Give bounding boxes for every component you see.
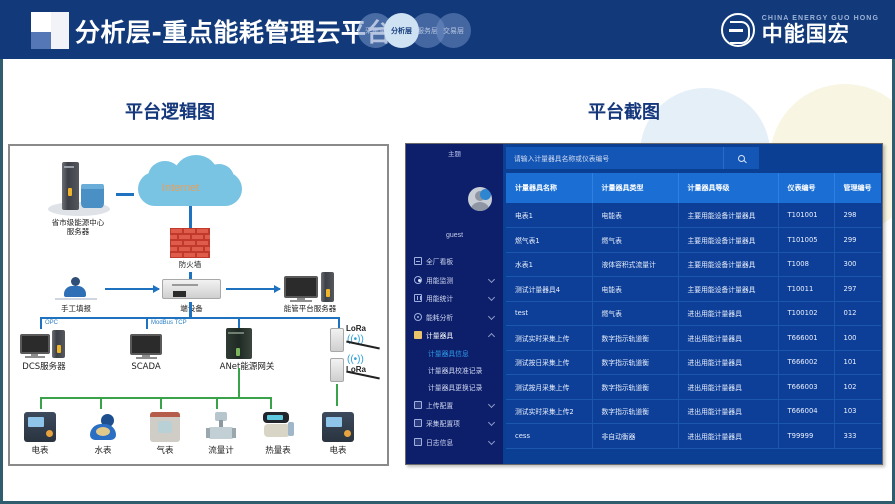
cell-meter-no: T99999 xyxy=(778,424,834,449)
meter-icon-water xyxy=(88,414,118,442)
sidebar-item-logs[interactable]: 日志信息 xyxy=(406,433,503,452)
table-row[interactable]: 测试实时采集上传2 数字指示轨道衡 进出用能计量器具 T666004 103 xyxy=(506,399,881,424)
logo-mark-icon xyxy=(31,12,69,49)
cell-meter-no: T666003 xyxy=(778,375,834,400)
table-header-row: 计量器具名称 计量器具类型 计量器具等级 仪表编号 管理编号 xyxy=(506,173,881,203)
table-row[interactable]: 燃气表1 燃气表 主要用能设备计量器具 T101005 299 xyxy=(506,228,881,253)
cell-meter-no: T1008 xyxy=(778,252,834,277)
manual-entry-head-icon xyxy=(71,277,80,286)
theme-label[interactable]: 主题 xyxy=(406,148,503,158)
cell-name: cess xyxy=(506,424,592,449)
bus-drop-dcs xyxy=(40,317,42,329)
cell-meter-no: T10011 xyxy=(778,277,834,302)
label-meter-heat: 热量表 xyxy=(254,446,302,457)
slide-root: 分析层-重点能耗管理云平台 采集层 服务层 交易层 分析层 CHINA ENER… xyxy=(0,0,895,504)
cell-type: 数字指示轨道衡 xyxy=(592,326,678,351)
platform-screenshot: 主题 guest 全厂看板 用能监测 用能统计 xyxy=(405,143,883,465)
layer-circle-trade[interactable]: 交易层 xyxy=(436,13,471,48)
search-row: 请输入计量器具名称或仪表编号 xyxy=(506,147,881,169)
sidebar-menu: 全厂看板 用能监测 用能统计 能耗分析 xyxy=(406,252,503,451)
sidebar-item-upload-config[interactable]: 上传配置 xyxy=(406,396,503,415)
cell-mgmt-no: 101 xyxy=(834,350,881,375)
table-body: 电表1 电能表 主要用能设备计量器具 T101001 298 燃气表1 燃气表 … xyxy=(506,203,881,448)
meter-icon-electric-2 xyxy=(322,412,354,442)
label-meter-flowmeter: 流量计 xyxy=(197,446,245,457)
col-header-grade[interactable]: 计量器具等级 xyxy=(678,173,778,203)
dashboard-icon xyxy=(414,257,422,265)
label-lora-1: LoRa xyxy=(346,324,366,333)
cell-type: 数字指示轨道衡 xyxy=(592,350,678,375)
meter-icon xyxy=(414,331,422,339)
chevron-down-icon xyxy=(488,312,495,319)
sidebar-label-meters: 计量器具 xyxy=(426,330,453,340)
table-row[interactable]: 电表1 电能表 主要用能设备计量器具 T101001 298 xyxy=(506,203,881,228)
anet-gateway-icon xyxy=(226,328,252,359)
lora-signal-2-icon: ((•)) xyxy=(347,354,364,365)
company-logo: CHINA ENERGY GUO HONG 中能国宏 xyxy=(721,9,879,51)
cell-grade: 主要用能设备计量器具 xyxy=(678,203,778,228)
cell-meter-no: T666001 xyxy=(778,326,834,351)
green-drop-4 xyxy=(216,397,218,409)
sidebar-item-meters[interactable]: 计量器具 xyxy=(406,326,503,345)
sidebar-label-statistics: 用能统计 xyxy=(426,293,453,303)
search-icon xyxy=(738,155,745,162)
sidebar-label-logs: 日志信息 xyxy=(426,437,453,447)
arrow-device-to-platform xyxy=(226,288,280,290)
lora-module-1-icon xyxy=(330,328,344,352)
cell-name: 水表1 xyxy=(506,252,592,277)
cell-name: test xyxy=(506,301,592,326)
sidebar-item-dashboard[interactable]: 全厂看板 xyxy=(406,252,503,271)
table-row[interactable]: test 燃气表 进出用能计量器具 T100102 012 xyxy=(506,301,881,326)
table-row[interactable]: 水表1 液体容积式流量计 主要用能设备计量器具 T1008 300 xyxy=(506,252,881,277)
scada-monitor-foot xyxy=(136,357,157,359)
brand-chinese: 中能国宏 xyxy=(762,24,879,45)
chevron-down-icon xyxy=(488,419,495,426)
province-server-icon xyxy=(62,162,79,210)
bus-drop-device xyxy=(189,302,192,318)
cell-name: 测试实时采集上传 xyxy=(506,326,592,351)
cell-type: 数字指示轨道衡 xyxy=(592,375,678,400)
search-input[interactable]: 请输入计量器具名称或仪表编号 xyxy=(506,147,723,169)
lora-module-2-icon xyxy=(330,358,344,382)
cell-grade: 进出用能计量器具 xyxy=(678,375,778,400)
label-platform-server: 能管平台服务器 xyxy=(270,304,350,313)
table-row[interactable]: 测试按月采集上传 数字指示轨道衡 进出用能计量器具 T666003 102 xyxy=(506,375,881,400)
meter-icon-gas xyxy=(150,412,180,442)
label-protocol-modbus: ModBus TCP xyxy=(151,320,187,326)
link-internet-firewall xyxy=(189,206,192,228)
page-title: 分析层-重点能耗管理云平台 xyxy=(75,13,392,49)
link-server-internet xyxy=(116,193,134,196)
cell-mgmt-no: 299 xyxy=(834,228,881,253)
sidebar-label-upload-config: 上传配置 xyxy=(426,400,453,410)
cell-mgmt-no: 333 xyxy=(834,424,881,449)
scada-monitor-icon xyxy=(130,334,162,355)
internet-label: Internet xyxy=(162,182,199,194)
label-province-server: 省市级能源中心服务器 xyxy=(28,218,128,237)
label-meter-electric-1: 电表 xyxy=(16,446,64,457)
col-header-meter-no[interactable]: 仪表编号 xyxy=(778,173,834,203)
meter-table: 计量器具名称 计量器具类型 计量器具等级 仪表编号 管理编号 电表1 电能表 主… xyxy=(506,173,881,449)
left-section-title: 平台逻辑图 xyxy=(125,98,215,124)
cell-type: 液体容积式流量计 xyxy=(592,252,678,277)
cell-meter-no: T101001 xyxy=(778,203,834,228)
sidebar-item-statistics[interactable]: 用能统计 xyxy=(406,289,503,308)
table-row[interactable]: cess 非自动衡器 进出用能计量器具 T99999 333 xyxy=(506,424,881,449)
layer-circle-analysis[interactable]: 分析层 xyxy=(384,13,419,48)
chevron-down-icon xyxy=(488,275,495,282)
sidebar-subitem-replacement[interactable]: 计量器具更换记录 xyxy=(406,379,503,396)
cell-type: 非自动衡器 xyxy=(592,424,678,449)
cell-name: 测试按月采集上传 xyxy=(506,375,592,400)
chevron-down-icon xyxy=(488,400,495,407)
cell-mgmt-no: 102 xyxy=(834,375,881,400)
green-drop-2 xyxy=(100,397,102,409)
page-header: 分析层-重点能耗管理云平台 采集层 服务层 交易层 分析层 CHINA ENER… xyxy=(0,0,895,59)
cell-type: 电能表 xyxy=(592,277,678,302)
cell-meter-no: T666002 xyxy=(778,350,834,375)
sidebar-sublabel-calibration: 计量器具校准记录 xyxy=(428,365,482,375)
arrow-manual-to-device xyxy=(105,288,159,290)
right-section-title: 平台截图 xyxy=(588,98,660,124)
upload-icon xyxy=(414,401,422,409)
cell-type: 电能表 xyxy=(592,203,678,228)
manual-entry-body-icon xyxy=(64,286,86,297)
chevron-up-icon xyxy=(488,333,495,340)
col-header-type[interactable]: 计量器具类型 xyxy=(592,173,678,203)
search-button[interactable] xyxy=(723,147,759,169)
sidebar-sublabel-replacement: 计量器具更换记录 xyxy=(428,382,482,392)
cell-meter-no: T101005 xyxy=(778,228,834,253)
cell-type: 燃气表 xyxy=(592,228,678,253)
database-icon xyxy=(81,184,104,208)
chevron-down-icon xyxy=(488,437,495,444)
sidebar-subitem-calibration[interactable]: 计量器具校准记录 xyxy=(406,362,503,379)
label-meter-water: 水表 xyxy=(79,446,127,457)
sidebar-sublabel-meter-info: 计量器具信息 xyxy=(428,348,469,358)
bus-horizontal-protocol xyxy=(40,317,340,319)
cell-name: 测试实时采集上传2 xyxy=(506,399,592,424)
app-sidebar: 主题 guest 全厂看板 用能监测 用能统计 xyxy=(406,144,503,465)
cell-grade: 主要用能设备计量器具 xyxy=(678,228,778,253)
sidebar-label-collect-config: 采集配置项 xyxy=(426,418,460,428)
dcs-monitor-foot xyxy=(25,356,45,358)
lora-down-link xyxy=(336,384,338,406)
sidebar-label-monitor: 用能监测 xyxy=(426,275,453,285)
cell-grade: 进出用能计量器具 xyxy=(678,350,778,375)
label-meter-gas: 气表 xyxy=(141,446,189,457)
table-row[interactable]: 测试计量器具4 电能表 主要用能设备计量器具 T10011 297 xyxy=(506,277,881,302)
col-header-name[interactable]: 计量器具名称 xyxy=(506,173,592,203)
sidebar-subitem-meter-info[interactable]: 计量器具信息 xyxy=(406,345,503,362)
platform-logic-diagram: 省市级能源中心服务器 Internet xyxy=(8,144,389,466)
cell-mgmt-no: 100 xyxy=(834,326,881,351)
meter-icon-heat xyxy=(260,412,296,442)
green-bus-horizontal xyxy=(40,397,272,399)
cell-name: 燃气表1 xyxy=(506,228,592,253)
table-row[interactable]: 测试实时采集上传 数字指示轨道衡 进出用能计量器具 T666001 100 xyxy=(506,326,881,351)
green-drop-3 xyxy=(160,397,162,409)
monitor-icon xyxy=(414,276,422,284)
guohong-g-icon xyxy=(721,13,755,47)
brand-english: CHINA ENERGY GUO HONG xyxy=(762,15,879,22)
avatar[interactable] xyxy=(468,187,492,211)
dcs-tower-icon xyxy=(52,330,65,358)
bus-drop-scada xyxy=(146,317,148,329)
log-icon xyxy=(414,438,422,446)
cell-grade: 进出用能计量器具 xyxy=(678,424,778,449)
cell-mgmt-no: 297 xyxy=(834,277,881,302)
cell-meter-no: T100102 xyxy=(778,301,834,326)
green-bus-drop xyxy=(238,368,240,398)
manual-entry-desk xyxy=(55,298,97,300)
sidebar-item-monitor[interactable]: 用能监测 xyxy=(406,271,503,290)
left-frame-rule xyxy=(0,59,3,504)
sidebar-item-analysis[interactable]: 能耗分析 xyxy=(406,308,503,327)
sidebar-username: guest xyxy=(406,232,503,239)
cell-grade: 进出用能计量器具 xyxy=(678,301,778,326)
label-manual-entry: 手工填报 xyxy=(46,304,106,313)
chevron-down-icon xyxy=(488,294,495,301)
cell-mgmt-no: 298 xyxy=(834,203,881,228)
cell-mgmt-no: 300 xyxy=(834,252,881,277)
platform-monitor-icon xyxy=(284,276,318,298)
dcs-monitor-icon xyxy=(20,334,50,354)
label-firewall: 防火墙 xyxy=(160,260,220,269)
search-placeholder: 请输入计量器具名称或仪表编号 xyxy=(514,153,609,163)
sidebar-item-collect-config[interactable]: 采集配置项 xyxy=(406,414,503,433)
cell-name: 测试计量器具4 xyxy=(506,277,592,302)
col-header-mgmt-no[interactable]: 管理编号 xyxy=(834,173,881,203)
sidebar-label-analysis: 能耗分析 xyxy=(426,312,453,322)
edge-device-icon xyxy=(162,279,221,299)
label-anet-gateway: ANet能源网关 xyxy=(210,362,284,373)
label-meter-electric-2: 电表 xyxy=(314,446,362,457)
green-drop-5 xyxy=(270,397,272,409)
cell-grade: 进出用能计量器具 xyxy=(678,326,778,351)
platform-tower-icon xyxy=(321,272,334,302)
label-scada: SCADA xyxy=(116,362,176,373)
label-dcs-server: DCS服务器 xyxy=(14,362,74,373)
stats-icon xyxy=(414,294,422,302)
app-main-content: 请输入计量器具名称或仪表编号 计量器具名称 计量器具类型 计量器具等级 仪表编号… xyxy=(503,144,883,465)
cell-mgmt-no: 012 xyxy=(834,301,881,326)
analysis-icon xyxy=(414,313,422,321)
green-drop-1 xyxy=(40,397,42,409)
cell-meter-no: T666004 xyxy=(778,399,834,424)
cell-name: 测试按日采集上传 xyxy=(506,350,592,375)
meter-icon-electric-1 xyxy=(24,412,56,442)
table-row[interactable]: 测试按日采集上传 数字指示轨道衡 进出用能计量器具 T666002 101 xyxy=(506,350,881,375)
cell-grade: 主要用能设备计量器具 xyxy=(678,252,778,277)
cell-mgmt-no: 103 xyxy=(834,399,881,424)
meter-icon-flowmeter xyxy=(206,412,236,442)
cell-type: 数字指示轨道衡 xyxy=(592,399,678,424)
firewall-icon xyxy=(170,228,210,258)
cell-name: 电表1 xyxy=(506,203,592,228)
sidebar-label-dashboard: 全厂看板 xyxy=(426,256,453,266)
label-protocol-opc: OPC xyxy=(45,320,58,326)
platform-monitor-foot xyxy=(290,300,312,302)
cell-type: 燃气表 xyxy=(592,301,678,326)
collect-icon xyxy=(414,419,422,427)
cell-grade: 进出用能计量器具 xyxy=(678,399,778,424)
cell-grade: 主要用能设备计量器具 xyxy=(678,277,778,302)
